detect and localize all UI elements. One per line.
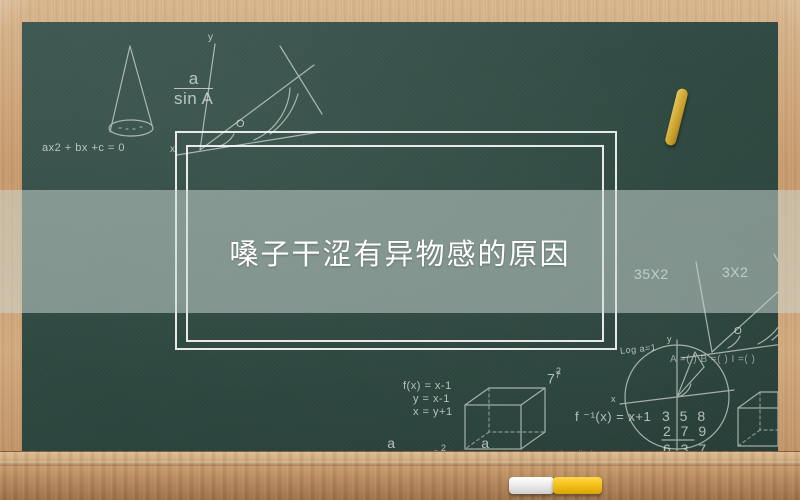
chalk-note-fx-2: y = x-1 — [413, 393, 450, 405]
chalk-note-sine-rule-bottom-left: a sin A — [375, 436, 408, 452]
chalk-note-inverse-function: f ⁻¹(x) = x+1 — [575, 409, 651, 425]
chalk-note-matrix-row: A =( ) B =( ) I =( ) — [670, 354, 755, 365]
chalkboard-banner: a sin A ax2 + bx +c = 0 y x O f(x) = x-1… — [0, 0, 800, 500]
chalk-note-angle-left: O — [236, 118, 245, 130]
chalk-tray-lip — [0, 461, 800, 466]
chalk-note-sub-minuend: 3 5 8 — [662, 408, 708, 424]
chalk-note-axis-y-circle: y — [667, 334, 672, 344]
title-overlay-band: 嗓子干涩有异物感的原因 — [0, 190, 800, 313]
chalk-tray — [0, 451, 800, 500]
page-title: 嗓子干涩有异物感的原因 — [229, 231, 570, 273]
chalk-note-quadratic: ax2 + bx +c = 0 — [42, 142, 125, 154]
chalk-tray-white — [509, 477, 554, 494]
chalk-note-axis-y-left: y — [208, 32, 214, 43]
sine-denominator: sin A — [174, 88, 213, 108]
chalk-note-axis-x-circle: x — [611, 394, 616, 404]
sine-numerator: a — [174, 70, 213, 88]
chalk-note-angle-right: O — [734, 326, 742, 337]
chalk-tray-yellow — [553, 477, 602, 494]
chalk-note-sub-subtrahend: 2 7 9 — [663, 423, 709, 439]
chalk-note-sine-rule-bottom-mid: a sin A — [469, 436, 502, 452]
chalk-note-sine-rule-top: a sin A — [174, 70, 213, 109]
chalk-note-fx-3: x = y+1 — [413, 406, 453, 418]
chalk-note-power-seven-exponent: 2 — [556, 366, 562, 376]
chalk-note-fx-1: f(x) = x-1 — [403, 380, 452, 392]
cone-drawing — [109, 46, 153, 136]
cube-drawing-right — [738, 392, 778, 446]
